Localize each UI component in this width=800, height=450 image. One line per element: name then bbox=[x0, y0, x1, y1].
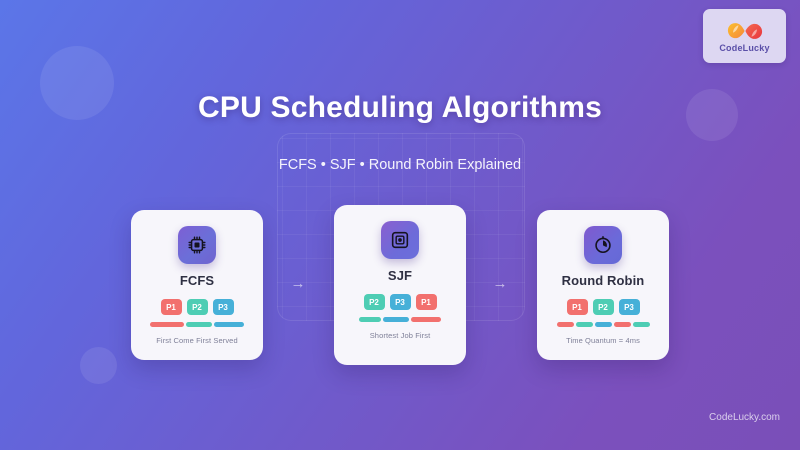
card-note: First Come First Served bbox=[156, 336, 237, 345]
gantt-timeline bbox=[359, 317, 441, 322]
flow-arrow-1-icon: → bbox=[285, 277, 311, 291]
focus-square-icon bbox=[381, 221, 419, 259]
card-note: Time Quantum = 4ms bbox=[566, 336, 640, 345]
flow-arrow-2-icon: → bbox=[487, 277, 513, 291]
process-chip-list: P1 P2 P3 bbox=[567, 299, 640, 315]
process-chip: P3 bbox=[390, 294, 411, 310]
process-chip: P2 bbox=[364, 294, 385, 310]
gantt-segment bbox=[557, 322, 574, 327]
process-chip-list: P2 P3 P1 bbox=[364, 294, 437, 310]
gantt-segment bbox=[383, 317, 409, 322]
gantt-segment bbox=[186, 322, 212, 327]
algorithm-card-fcfs[interactable]: FCFS P1 P2 P3 First Come First Served bbox=[131, 210, 263, 360]
gantt-segment bbox=[576, 322, 593, 327]
process-chip: P3 bbox=[213, 299, 234, 315]
process-chip: P2 bbox=[593, 299, 614, 315]
brand-logo-text: CodeLucky bbox=[719, 43, 769, 53]
process-chip: P1 bbox=[567, 299, 588, 315]
gantt-segment bbox=[595, 322, 612, 327]
footer-watermark: CodeLucky.com bbox=[709, 412, 780, 423]
process-chip-list: P1 P2 P3 bbox=[161, 299, 234, 315]
page-subtitle: FCFS • SJF • Round Robin Explained bbox=[0, 157, 800, 173]
algorithm-card-sjf[interactable]: SJF P2 P3 P1 Shortest Job First bbox=[334, 205, 466, 365]
process-chip: P1 bbox=[416, 294, 437, 310]
card-title: Round Robin bbox=[562, 273, 645, 288]
gantt-segment bbox=[614, 322, 631, 327]
algorithm-card-round-robin[interactable]: Round Robin P1 P2 P3 Time Quantum = 4ms bbox=[537, 210, 669, 360]
gantt-segment bbox=[633, 322, 650, 327]
gantt-segment bbox=[214, 322, 244, 327]
brand-logo-badge[interactable]: CodeLucky bbox=[703, 9, 786, 63]
gantt-timeline bbox=[150, 322, 244, 327]
cpu-chip-icon bbox=[178, 226, 216, 264]
process-chip: P2 bbox=[187, 299, 208, 315]
process-chip: P1 bbox=[161, 299, 182, 315]
slide-canvas: CodeLucky CPU Scheduling Algorithms FCFS… bbox=[0, 0, 800, 450]
gantt-segment bbox=[150, 322, 184, 327]
gantt-timeline bbox=[557, 322, 650, 327]
process-chip: P3 bbox=[619, 299, 640, 315]
infinity-leaf-logo-icon bbox=[725, 20, 765, 42]
card-title: SJF bbox=[388, 268, 412, 283]
clock-timer-icon bbox=[584, 226, 622, 264]
gantt-segment bbox=[359, 317, 381, 322]
gantt-segment bbox=[411, 317, 441, 322]
card-note: Shortest Job First bbox=[370, 331, 431, 340]
card-title: FCFS bbox=[180, 273, 214, 288]
decorative-circle-bottom-left bbox=[80, 347, 117, 384]
page-title: CPU Scheduling Algorithms bbox=[0, 91, 800, 125]
